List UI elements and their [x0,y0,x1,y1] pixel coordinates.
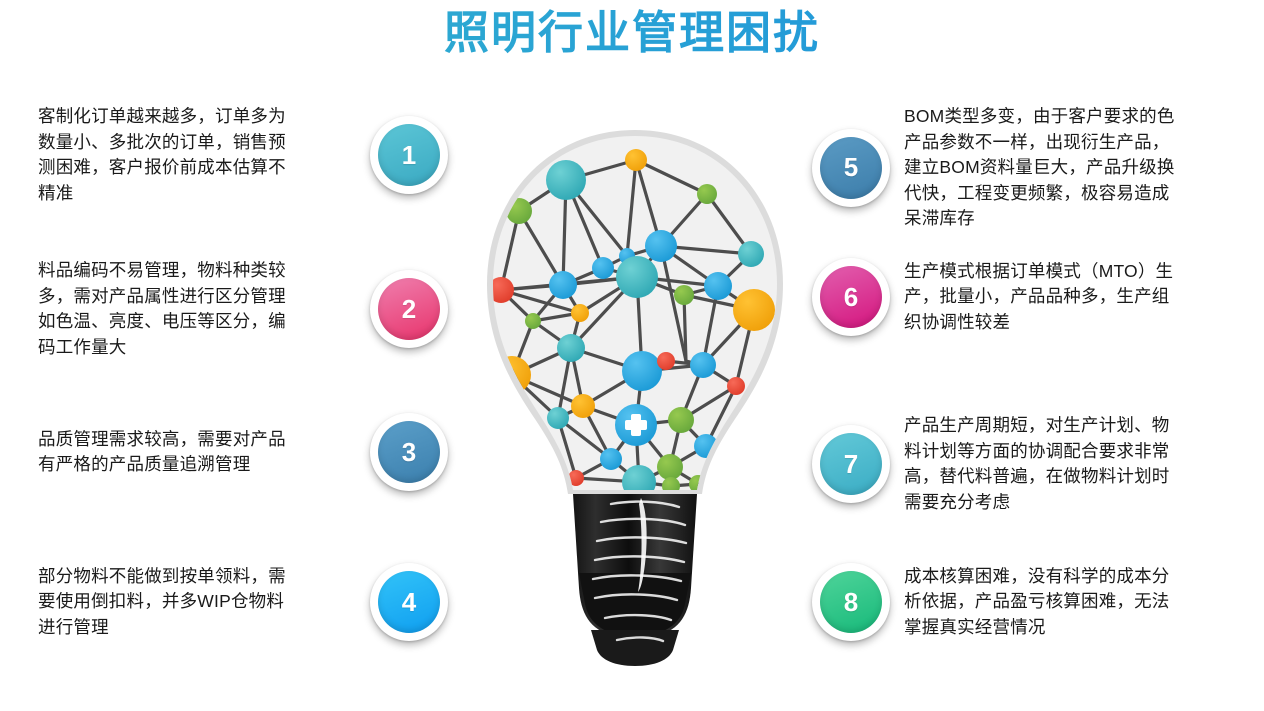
badge-number-2: 2 [378,278,440,340]
point-text-5: BOM类型多变，由于客户要求的色 产品参数不一样，出现衍生产品， 建立BOM资料… [904,104,1256,232]
point-text-1: 客制化订单越来越多，订单多为 数量小、多批次的订单，销售预 测困难，客户报价前成… [38,104,358,206]
badge-number-4: 4 [378,571,440,633]
point-text-4: 部分物料不能做到按单领料，需 要使用倒扣料，并多WIP仓物料 进行管理 [38,564,358,641]
point-text-3: 品质管理需求较高，需要对产品 有严格的产品质量追溯管理 [38,427,358,478]
point-row-8: 8 成本核算困难，没有科学的成本分 析依据，产品盈亏核算困难，无法 掌握真实经营… [812,563,1264,641]
badge-number-7: 7 [820,433,882,495]
point-badge-4[interactable]: 4 [370,563,448,641]
point-text-7: 产品生产周期短，对生产计划、物 料计划等方面的协调配合要求非常 高，替代料普遍，… [904,413,1256,515]
point-badge-2[interactable]: 2 [370,270,448,348]
point-badge-8[interactable]: 8 [812,563,890,641]
point-row-4: 部分物料不能做到按单领料，需 要使用倒扣料，并多WIP仓物料 进行管理 4 [38,563,458,641]
point-badge-6[interactable]: 6 [812,258,890,336]
point-badge-7[interactable]: 7 [812,425,890,503]
point-row-2: 料品编码不易管理，物料种类较 多，需对产品属性进行区分管理 如色温、亮度、电压等… [38,258,458,360]
point-row-7: 7 产品生产周期短，对生产计划、物 料计划等方面的协调配合要求非常 高，替代料普… [812,413,1264,515]
badge-number-8: 8 [820,571,882,633]
lightbulb-network-illustration [465,118,805,678]
page-title: 照明行业管理困扰 [0,4,1264,62]
point-text-6: 生产模式根据订单模式（MTO）生 产，批量小，产品品种多，生产组 织协调性较差 [904,259,1256,336]
badge-number-5: 5 [820,137,882,199]
point-badge-1[interactable]: 1 [370,116,448,194]
badge-number-3: 3 [378,421,440,483]
badge-number-1: 1 [378,124,440,186]
point-row-5: 5 BOM类型多变，由于客户要求的色 产品参数不一样，出现衍生产品， 建立BOM… [812,104,1264,232]
badge-number-6: 6 [820,266,882,328]
point-badge-3[interactable]: 3 [370,413,448,491]
point-row-6: 6 生产模式根据订单模式（MTO）生 产，批量小，产品品种多，生产组 织协调性较… [812,258,1264,336]
point-badge-5[interactable]: 5 [812,129,890,207]
point-row-3: 品质管理需求较高，需要对产品 有严格的产品质量追溯管理 3 [38,413,458,491]
point-row-1: 客制化订单越来越多，订单多为 数量小、多批次的订单，销售预 测困难，客户报价前成… [38,104,458,206]
point-text-2: 料品编码不易管理，物料种类较 多，需对产品属性进行区分管理 如色温、亮度、电压等… [38,258,358,360]
point-text-8: 成本核算困难，没有科学的成本分 析依据，产品盈亏核算困难，无法 掌握真实经营情况 [904,564,1256,641]
